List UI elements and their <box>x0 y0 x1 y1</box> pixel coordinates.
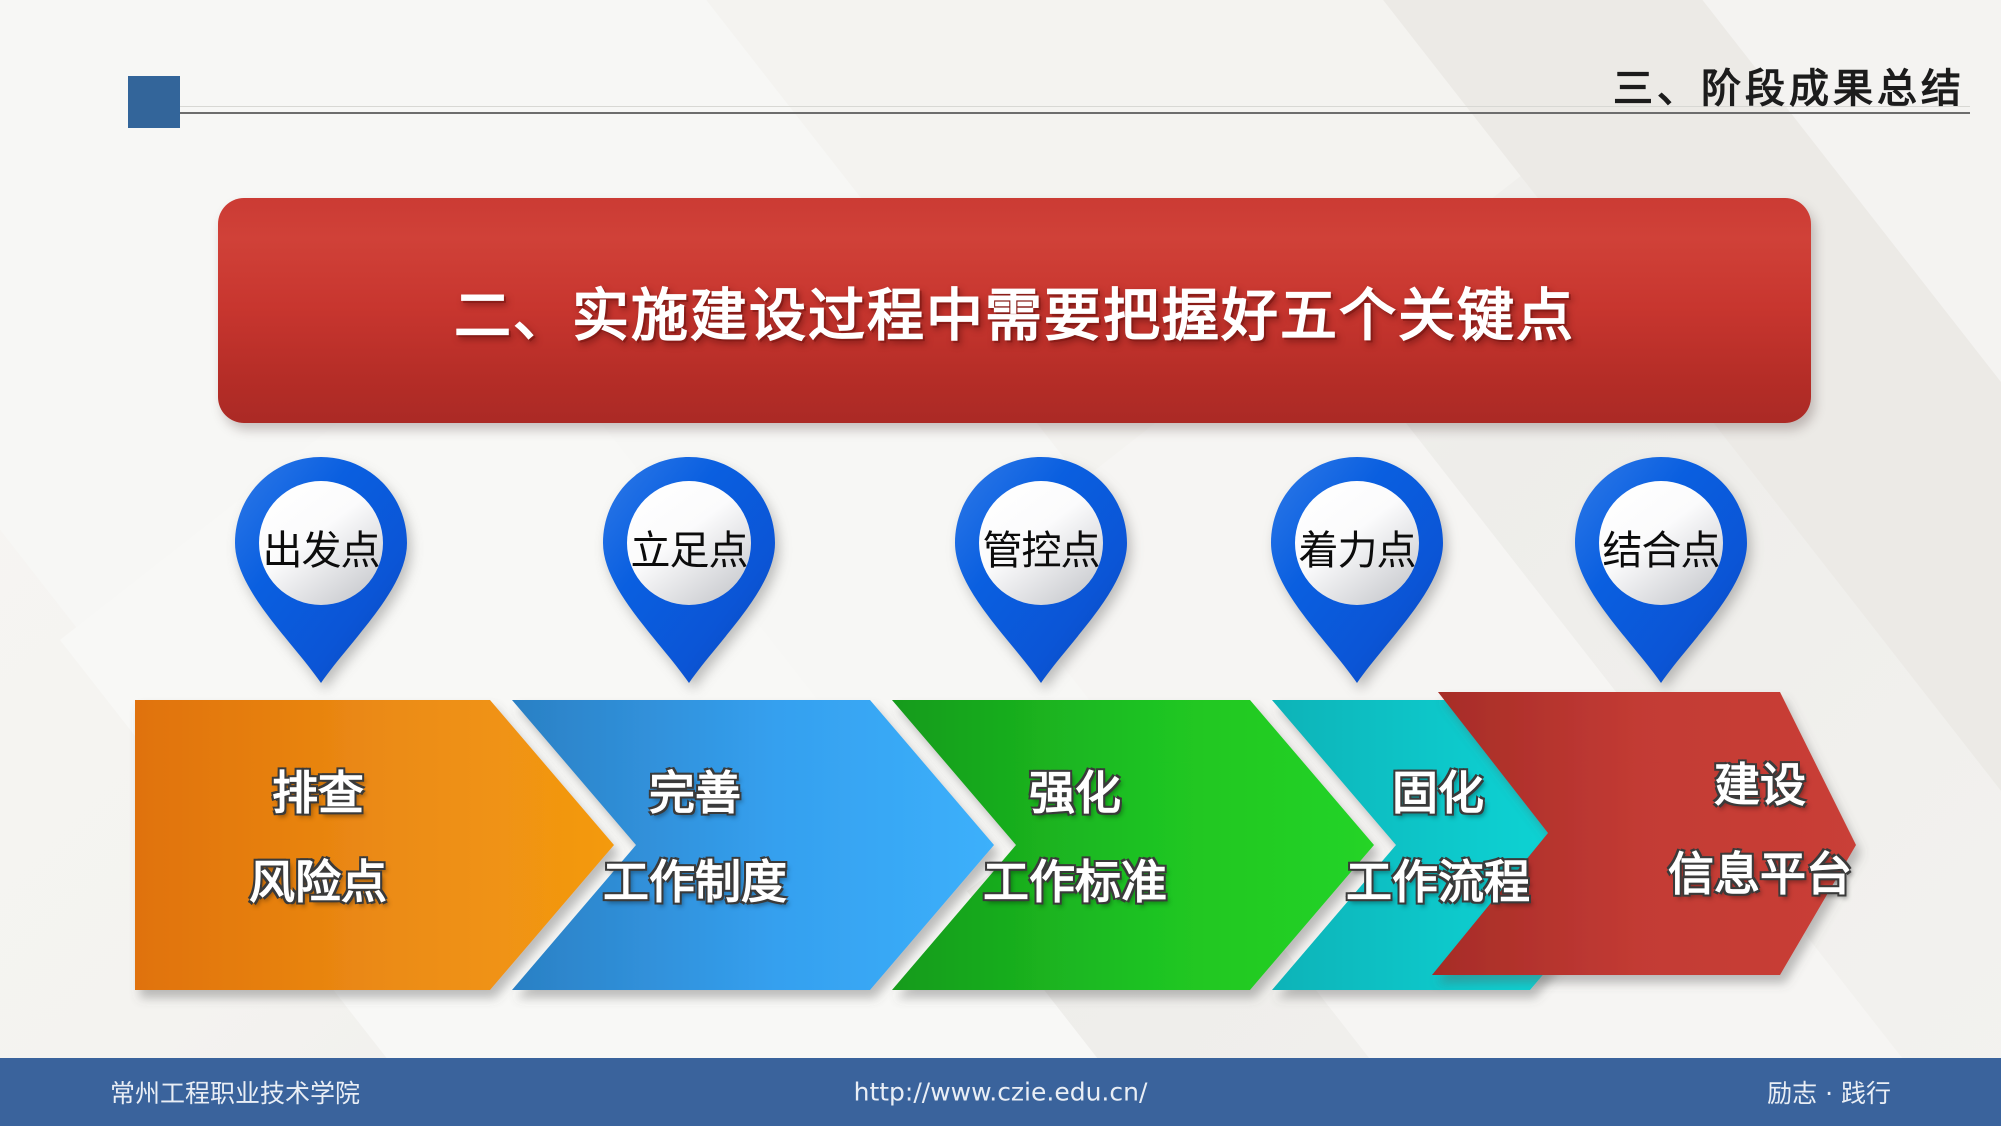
pin-label-5: 结合点 <box>1603 531 1720 571</box>
chevron-label-1-line1: 排查 <box>168 760 468 827</box>
footer-bar: 常州工程职业技术学院 http://www.czie.edu.cn/ 励志 · … <box>0 1058 2001 1126</box>
pin-marker-5: 结合点 <box>1572 455 1750 685</box>
chevron-label-4: 固化 工作流程 <box>1288 760 1588 915</box>
pin-label-1: 出发点 <box>263 531 380 571</box>
chevron-label-5-line1: 建设 <box>1610 752 1910 819</box>
header-square-marker <box>128 76 180 128</box>
chevron-label-4-line2: 工作流程 <box>1288 849 1588 916</box>
pin-marker-2: 立足点 <box>600 455 778 685</box>
chevron-label-2-line1: 完善 <box>545 760 845 827</box>
chevron-label-3: 强化 工作标准 <box>925 760 1225 915</box>
chevron-label-2: 完善 工作制度 <box>545 760 845 915</box>
title-banner: 二、实施建设过程中需要把握好五个关键点 <box>218 198 1811 423</box>
chevron-label-3-line1: 强化 <box>925 760 1225 827</box>
pin-marker-4: 着力点 <box>1268 455 1446 685</box>
section-title: 三、阶段成果总结 <box>1613 56 1965 114</box>
chevron-label-2-line2: 工作制度 <box>545 849 845 916</box>
chevron-label-4-line1: 固化 <box>1288 760 1588 827</box>
chevron-label-3-line2: 工作标准 <box>925 849 1225 916</box>
footer-organization: 常州工程职业技术学院 <box>110 1074 360 1110</box>
slide-canvas: 三、阶段成果总结 二、实施建设过程中需要把握好五个关键点 <box>0 0 2001 1126</box>
chevron-label-5: 建设 信息平台 <box>1610 752 1910 907</box>
pin-label-4: 着力点 <box>1299 531 1416 571</box>
pin-label-3: 管控点 <box>983 531 1100 571</box>
chevron-label-1-line2: 风险点 <box>168 849 468 916</box>
chevron-label-5-line2: 信息平台 <box>1610 841 1910 908</box>
chevron-label-1: 排查 风险点 <box>168 760 468 915</box>
pin-marker-1: 出发点 <box>232 455 410 685</box>
footer-url[interactable]: http://www.czie.edu.cn/ <box>854 1078 1148 1107</box>
pin-marker-3: 管控点 <box>952 455 1130 685</box>
title-banner-text: 二、实施建设过程中需要把握好五个关键点 <box>454 270 1575 352</box>
footer-motto: 励志 · 践行 <box>1767 1074 1891 1110</box>
pin-label-2: 立足点 <box>631 531 748 571</box>
